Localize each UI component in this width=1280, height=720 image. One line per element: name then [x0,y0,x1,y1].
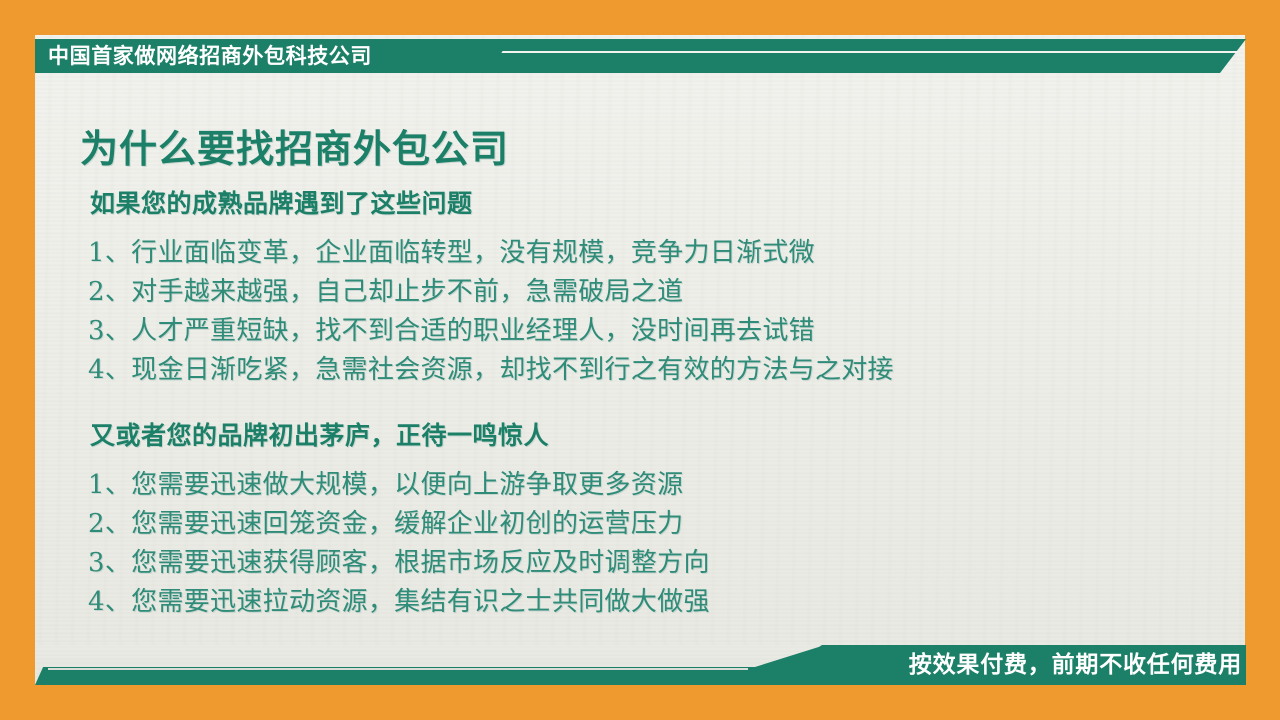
list-item: 1、行业面临变革，企业面临转型，没有规模，竞争力日渐式微 [88,234,1245,273]
list-item: 2、对手越来越强，自己却止步不前，急需破局之道 [88,273,1245,312]
list-item: 2、您需要迅速回笼资金，缓解企业初创的运营压力 [88,505,1245,544]
main-content: 为什么要找招商外包公司 如果您的成熟品牌遇到了这些问题 1、行业面临变革，企业面… [35,80,1245,640]
section-heading: 如果您的成熟品牌遇到了这些问题 [90,184,1245,220]
list-item: 3、人才严重短缺，找不到合适的职业经理人，没时间再去试错 [88,312,1245,351]
section-mature-brand: 如果您的成熟品牌遇到了这些问题 1、行业面临变革，企业面临转型，没有规模，竞争力… [35,184,1245,390]
list-item: 4、您需要迅速拉动资源，集结有识之士共同做大做强 [88,583,1245,622]
section-new-brand: 又或者您的品牌初出茅庐，正待一鸣惊人 1、您需要迅速做大规模，以便向上游争取更多… [35,416,1245,622]
header-tab-label: 中国首家做网络招商外包科技公司 [48,39,372,73]
footer-slant-cut [35,645,825,667]
list-item: 1、您需要迅速做大规模，以便向上游争取更多资源 [88,466,1245,505]
slide-root: 中国首家做网络招商外包科技公司 为什么要找招商外包公司 如果您的成熟品牌遇到了这… [0,0,1280,720]
section-list: 1、您需要迅速做大规模，以便向上游争取更多资源 2、您需要迅速回笼资金，缓解企业… [35,466,1245,622]
list-item: 3、您需要迅速获得顾客，根据市场反应及时调整方向 [88,544,1245,583]
section-heading: 又或者您的品牌初出茅庐，正待一鸣惊人 [90,416,1245,452]
footer-tagline: 按效果付费，前期不收任何费用 [909,645,1242,685]
list-item: 4、现金日渐吃紧，急需社会资源，却找不到行之有效的方法与之对接 [88,351,1245,390]
section-list: 1、行业面临变革，企业面临转型，没有规模，竞争力日渐式微 2、对手越来越强，自己… [35,234,1245,390]
page-title: 为什么要找招商外包公司 [80,118,509,173]
footer-divider-line [48,668,748,670]
